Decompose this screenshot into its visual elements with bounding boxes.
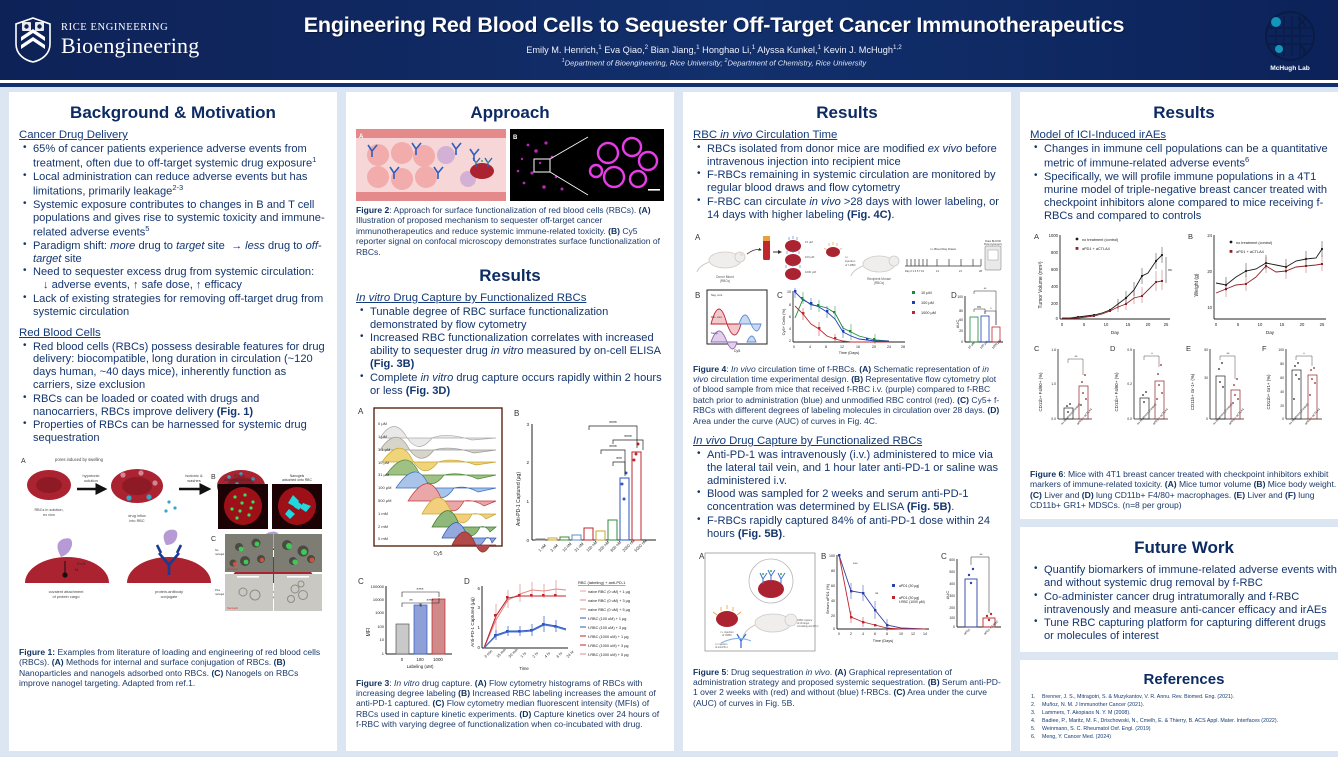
svg-text:***: ***: [853, 561, 858, 566]
svg-text:naive RBC (0 uM) + 3 µg: naive RBC (0 uM) + 3 µg: [588, 599, 630, 603]
svg-text:aPD1 + aCTLA4: aPD1 + aCTLA4: [1228, 407, 1245, 426]
svg-text:aPD1 (30 µg): aPD1 (30 µg): [899, 584, 919, 588]
section-title-results-2: Results: [356, 266, 664, 286]
mchugh-lab-logo: McHugh Lab: [1248, 1, 1332, 79]
svg-text:10 µM: 10 µM: [921, 291, 932, 295]
list-item: Brenner, J. S., Mitragotri, S. & Muzykan…: [1030, 694, 1338, 702]
svg-text:31 µM: 31 µM: [378, 472, 389, 477]
svg-text:CD11b+ Gr-1+ (%): CD11b+ Gr-1+ (%): [1190, 373, 1195, 410]
section-title-results-3: Results: [693, 103, 1001, 123]
svg-text:**: **: [979, 552, 983, 557]
svg-text:aPD1 + aCTLA4: aPD1 + aCTLA4: [1082, 247, 1110, 251]
column-results-irae: Results Model of ICI-Induced irAEs Chang…: [1020, 92, 1338, 751]
svg-text:Cy5: Cy5: [734, 349, 740, 353]
card-approach-results: Approach: [346, 92, 674, 751]
svg-text:aPD1 + aCTLA4: aPD1 + aCTLA4: [1304, 407, 1321, 426]
svg-text:of anti-PD-1: of anti-PD-1: [715, 646, 728, 649]
svg-text:1 µM: 1 µM: [378, 434, 387, 439]
svg-text:28: 28: [979, 269, 982, 273]
svg-text:1 hr: 1 hr: [520, 650, 528, 658]
svg-text:0: 0: [401, 657, 404, 662]
svg-text:of protein cargo: of protein cargo: [52, 594, 79, 599]
svg-text:f-RBC (1000 µM): f-RBC (1000 µM): [899, 600, 925, 604]
svg-text:nanogel: nanogel: [215, 592, 225, 596]
list-item: Badiee, P., Maritz, M. F., Drischowski, …: [1030, 718, 1338, 726]
svg-text:0: 0: [953, 625, 955, 629]
svg-text:1: 1: [382, 651, 385, 656]
svg-text:C=O: C=O: [77, 561, 85, 566]
svg-text:A: A: [695, 233, 701, 242]
svg-text:naive RBC (0 uM) + 1 µg: naive RBC (0 uM) + 1 µg: [588, 590, 630, 594]
svg-text:0: 0: [833, 627, 835, 631]
svg-text:0: 0: [1282, 417, 1284, 421]
svg-text:Day: Day: [1111, 330, 1120, 335]
svg-text:10: 10: [1207, 305, 1212, 310]
svg-text:*: *: [1303, 352, 1305, 356]
svg-text:8: 8: [825, 345, 827, 349]
reference-list: Brenner, J. S., Mitragotri, S. & Muzykan…: [1030, 694, 1338, 742]
svg-text:400: 400: [949, 582, 955, 586]
list-item: Need to sequester excess drug from syste…: [21, 266, 327, 292]
svg-text:28: 28: [901, 345, 905, 349]
list-item: Lack of existing strategies for removing…: [21, 293, 327, 319]
svg-text:80: 80: [831, 569, 835, 573]
svg-text:*: *: [1151, 352, 1153, 356]
svg-text:60: 60: [959, 318, 963, 322]
svg-text:B: B: [513, 135, 518, 141]
svg-text:14: 14: [923, 632, 927, 636]
svg-text:4: 4: [809, 345, 811, 349]
svg-text:E: E: [1186, 344, 1191, 353]
svg-text:C: C: [777, 291, 783, 300]
svg-text:****: ****: [426, 598, 433, 603]
svg-text:0: 0: [526, 538, 529, 543]
subheading-ici-irae: Model of ICI-Induced irAEs: [1030, 129, 1338, 141]
svg-text:4: 4: [789, 327, 791, 331]
svg-text:RBCs in solution,: RBCs in solution,: [34, 508, 63, 512]
subheading-in-vitro-capture: In vitro Drug Capture by Functionalized …: [356, 292, 664, 304]
svg-text:(RBCs): (RBCs): [720, 279, 730, 283]
card-future-work: Future Work Quantify biomarkers of immun…: [1020, 527, 1338, 652]
svg-text:10000: 10000: [373, 597, 385, 602]
list-item: Systemic exposure contributes to changes…: [21, 199, 327, 239]
list-item: Blood was sampled for 2 weeks and serum …: [695, 488, 1001, 514]
svg-text:**: **: [1075, 355, 1078, 359]
svg-text:20: 20: [1300, 322, 1305, 327]
svg-text:10: 10: [899, 632, 903, 636]
svg-text:100: 100: [416, 657, 424, 662]
svg-text:RBC (labeling) + anti-PD-1: RBC (labeling) + anti-PD-1: [578, 580, 626, 585]
svg-text:4: 4: [862, 632, 864, 636]
subheading-cancer-drug-delivery: Cancer Drug Delivery: [19, 129, 327, 141]
bullet-list-in-vivo-capture: Anti-PD-1 was intravenously (i.v.) admin…: [695, 449, 1001, 540]
svg-text:0 min: 0 min: [484, 649, 493, 658]
svg-text:1000: 1000: [433, 657, 443, 662]
bullet-list-irae: Changes in immune cell populations can b…: [1032, 143, 1338, 223]
svg-text:6: 6: [874, 632, 876, 636]
svg-text:12: 12: [840, 345, 844, 349]
svg-text:C: C: [211, 536, 216, 543]
author-list: Emily M. Henrich,1 Eva Qiao,2 Bian Jiang…: [210, 44, 1218, 55]
card-results-invivo: Results RBC in vivo Circulation Time RBC…: [683, 92, 1011, 751]
list-item: Tunable degree of RBC surface functional…: [358, 306, 664, 332]
card-references: References Brenner, J. S., Mitragotri, S…: [1020, 660, 1338, 751]
svg-text:of f-RBC: of f-RBC: [845, 263, 856, 267]
svg-text:0: 0: [1215, 322, 1218, 327]
svg-text:25: 25: [1164, 322, 1169, 327]
svg-text:CD11b+ F4/80+ (%): CD11b+ F4/80+ (%): [1114, 372, 1119, 412]
svg-text:**: **: [409, 598, 413, 603]
list-item: Complete in vitro drug capture occurs ra…: [358, 372, 664, 398]
bullet-list-future-work: Quantify biomarkers of immune-related ad…: [1032, 564, 1338, 643]
svg-text:1000 µM: 1000 µM: [921, 311, 936, 315]
svg-text:100: 100: [949, 616, 955, 620]
list-item: RBCs isolated from donor mice are modifi…: [695, 143, 1001, 169]
svg-text:80: 80: [1280, 362, 1284, 366]
svg-text:adsorbed onto RBC: adsorbed onto RBC: [224, 478, 254, 482]
list-item: Red blood cells (RBCs) possess desirable…: [21, 341, 327, 393]
svg-text:21: 21: [959, 269, 962, 273]
svg-text:Cy5+ Cells (%): Cy5+ Cells (%): [781, 307, 786, 334]
card-results-irae: Results Model of ICI-Induced irAEs Chang…: [1020, 92, 1338, 519]
svg-text:100000: 100000: [371, 584, 385, 589]
list-item: F-RBC can circulate in vivo >28 days wit…: [695, 196, 1001, 222]
svg-text:f-RBC (100 uM) + 3 µg: f-RBC (100 uM) + 3 µg: [588, 626, 626, 630]
svg-text:Nanogels: Nanogels: [227, 567, 239, 571]
column-results-invivo: Results RBC in vivo Circulation Time RBC…: [683, 92, 1011, 751]
svg-text:100: 100: [377, 624, 384, 629]
svg-text:200: 200: [1051, 301, 1059, 306]
svg-text:CD11b+ Gr1+ (%): CD11b+ Gr1+ (%): [1266, 374, 1271, 410]
svg-text:600: 600: [949, 558, 955, 562]
figure-3-caption: Figure 3: In vitro drug capture. (A) Flo…: [356, 678, 664, 730]
svg-text:600: 600: [1051, 267, 1059, 272]
list-item: Lammers, T. Akopiaos N. Y. M (2008).: [1030, 710, 1338, 718]
list-item: Changes in immune cell populations can b…: [1032, 143, 1338, 171]
svg-text:10 µM: 10 µM: [378, 460, 389, 465]
svg-text:40: 40: [1280, 390, 1284, 394]
svg-text:drug influx: drug influx: [128, 514, 146, 518]
svg-text:A: A: [359, 134, 364, 140]
svg-text:400: 400: [1051, 284, 1059, 289]
svg-text:2: 2: [526, 460, 529, 465]
svg-text:Plus: Plus: [215, 588, 221, 592]
svg-text:ns: ns: [875, 591, 879, 595]
svg-text:8: 8: [789, 303, 791, 307]
svg-text:0: 0: [1056, 316, 1059, 321]
bioengineering-text: Bioengineering: [61, 35, 199, 57]
figure-2: A: [356, 129, 664, 201]
svg-text:Anti-PD-1 Captured (µg): Anti-PD-1 Captured (µg): [470, 596, 475, 646]
svg-text:50: 50: [1204, 348, 1208, 352]
svg-text:0 µM: 0 µM: [378, 421, 387, 426]
list-item: F-RBCs remaining in systemic circulation…: [695, 169, 1001, 195]
svg-text:100 µM: 100 µM: [921, 301, 934, 305]
svg-text:Day: Day: [1266, 330, 1275, 335]
svg-text:60: 60: [831, 584, 835, 588]
figure-5-caption: Figure 5: Drug sequestration in vivo. (A…: [693, 667, 1001, 709]
svg-text:A: A: [21, 458, 26, 465]
rice-shield-icon: [14, 17, 52, 63]
svg-text:4 hr: 4 hr: [544, 650, 552, 658]
svg-text:C: C: [358, 577, 364, 586]
svg-text:Day 0 1 3 5 7 10: Day 0 1 3 5 7 10: [905, 269, 925, 273]
svg-text:Tumor Volume (mm³): Tumor Volume (mm³): [1038, 261, 1044, 308]
svg-text:10 µM: 10 µM: [805, 240, 813, 244]
svg-text:3.1 µM: 3.1 µM: [378, 447, 390, 452]
svg-text:Nanogels: Nanogels: [227, 606, 239, 610]
svg-text:0.5: 0.5: [1127, 348, 1132, 352]
list-item: Co-administer cancer drug intratumorally…: [1032, 591, 1338, 617]
subheading-circulation-time: RBC in vivo Circulation Time: [693, 129, 1001, 141]
svg-text:Serum aPD1 (%): Serum aPD1 (%): [825, 583, 830, 614]
figure-1-panels-bc: B PLNPs adsorbed onto RBC Nanogels adsor…: [211, 471, 327, 641]
list-item: Anti-PD-1 was intravenously (i.v.) admin…: [695, 449, 1001, 488]
svg-text:ex vivo: ex vivo: [43, 513, 55, 517]
svg-text:500 µM: 500 µM: [378, 498, 391, 503]
svg-text:2 mM: 2 mM: [378, 524, 388, 529]
bullet-list-in-vitro: Tunable degree of RBC surface functional…: [358, 306, 664, 397]
svg-text:Samp.: Samp.: [711, 331, 719, 335]
svg-text:15: 15: [1280, 322, 1285, 327]
svg-text:100 µM: 100 µM: [979, 339, 989, 349]
svg-text:No: No: [215, 548, 219, 552]
svg-text:500: 500: [949, 570, 955, 574]
svg-text:N: N: [75, 567, 78, 572]
svg-text:adsorbed onto RBC: adsorbed onto RBC: [282, 478, 312, 482]
bullet-list-drug-delivery: 65% of cancer patients experience advers…: [21, 143, 327, 319]
svg-text:****: ****: [609, 445, 617, 451]
svg-text:D: D: [464, 577, 470, 586]
svg-text:24 hr: 24 hr: [566, 649, 575, 658]
svg-text:D: D: [951, 291, 957, 300]
svg-text:****: ****: [624, 435, 632, 441]
svg-text:f-RBC (1000 uM) + 1 µg: f-RBC (1000 uM) + 1 µg: [588, 635, 629, 639]
page-title: Engineering Red Blood Cells to Sequester…: [210, 13, 1218, 38]
svg-text:into RBC: into RBC: [129, 519, 144, 523]
svg-text:aPD1: aPD1: [963, 627, 971, 635]
svg-text:****: ****: [416, 587, 423, 592]
svg-text:20: 20: [1146, 322, 1151, 327]
bullet-list-circulation: RBCs isolated from donor mice are modifi…: [695, 143, 1001, 222]
svg-text:circulating anti-PD-1: circulating anti-PD-1: [797, 625, 819, 628]
svg-text:14: 14: [936, 269, 939, 273]
svg-text:6: 6: [478, 586, 481, 591]
svg-text:CD11b+ F4/80+ (%): CD11b+ F4/80+ (%): [1038, 372, 1043, 412]
svg-text:5 mM: 5 mM: [378, 536, 388, 541]
svg-text:Neg. cont.: Neg. cont.: [711, 293, 723, 297]
svg-text:1000: 1000: [375, 610, 385, 615]
svg-text:100 µM: 100 µM: [805, 255, 815, 259]
svg-text:3: 3: [478, 605, 481, 610]
affiliation-line: 1Department of Bioengineering, Rice Univ…: [210, 58, 1218, 68]
svg-text:conjugate: conjugate: [161, 594, 178, 599]
svg-text:2: 2: [789, 339, 791, 343]
list-item: Specifically, we will profile immune pop…: [1032, 171, 1338, 223]
svg-text:1: 1: [526, 499, 529, 504]
svg-text:B: B: [1188, 232, 1193, 241]
svg-text:20: 20: [1207, 269, 1212, 274]
svg-text:15: 15: [1126, 322, 1131, 327]
svg-text:15 min: 15 min: [496, 647, 507, 658]
column-background: Background & Motivation Cancer Drug Deli…: [9, 92, 337, 751]
svg-text:0.0: 0.0: [1127, 417, 1132, 421]
svg-text:****: ****: [609, 421, 617, 427]
svg-text:ns: ns: [1168, 268, 1172, 272]
svg-text:Pos. cont.: Pos. cont.: [711, 315, 723, 319]
rice-engineering-logo: RICE ENGINEERING Bioengineering: [0, 17, 200, 63]
subheading-in-vivo-capture: In vivo Drug Capture by Functionalized R…: [693, 435, 1001, 447]
figure-1-caption: Figure 1: Examples from literature of lo…: [19, 647, 327, 689]
svg-text:**: **: [984, 287, 987, 291]
svg-text:Time (Days): Time (Days): [873, 639, 894, 643]
svg-text:aPD1 + aCTLA4: aPD1 + aCTLA4: [1236, 250, 1264, 254]
svg-text:60: 60: [1280, 376, 1284, 380]
svg-text:300: 300: [949, 594, 955, 598]
svg-text:Flow Cytometry: Flow Cytometry: [984, 242, 1003, 246]
svg-text:B: B: [211, 474, 216, 481]
svg-text:1000 µM: 1000 µM: [991, 338, 1002, 349]
svg-text:200: 200: [949, 606, 955, 610]
svg-text:20: 20: [872, 345, 876, 349]
svg-text:Anti-PD-1 Captured (µg): Anti-PD-1 Captured (µg): [516, 471, 522, 525]
svg-text:100: 100: [829, 554, 835, 558]
svg-text:no treatment (control): no treatment (control): [1082, 238, 1119, 242]
list-item: F-RBCs rapidly captured 84% of anti-PD-1…: [695, 515, 1001, 541]
svg-text:1: 1: [478, 625, 481, 630]
figure-3: A: [356, 404, 664, 674]
svg-text:nanogel: nanogel: [215, 552, 225, 556]
poster-header: RICE ENGINEERING Bioengineering Engineer…: [0, 0, 1338, 83]
svg-text:washes: washes: [187, 478, 201, 483]
svg-text:(RBCs): (RBCs): [874, 281, 884, 285]
svg-text:20: 20: [831, 614, 835, 618]
svg-text:100 nM: 100 nM: [585, 539, 598, 552]
svg-text:f-RBC (100 uM) + 1 µg: f-RBC (100 uM) + 1 µg: [588, 617, 626, 621]
svg-text:300 nM: 300 nM: [597, 539, 610, 552]
svg-text:C: C: [941, 552, 947, 561]
svg-text:0: 0: [478, 645, 481, 650]
svg-text:24: 24: [1207, 233, 1212, 238]
figure-5: A i.v. injection of f-RBC: [693, 547, 1001, 659]
svg-text:D: D: [1110, 344, 1116, 353]
figure-4: A Donor Blood (RBCs): [693, 228, 1001, 356]
svg-text:3 nM: 3 nM: [549, 542, 559, 552]
svg-text:30: 30: [1204, 376, 1208, 380]
svg-text:Time (Days): Time (Days): [839, 351, 860, 355]
svg-text:MFI: MFI: [366, 627, 372, 636]
indent-note: ↓ adverse events, ↑ safe dose, ↑ efficac…: [33, 279, 327, 292]
svg-text:1 mM: 1 mM: [378, 511, 388, 516]
svg-text:1.6: 1.6: [1051, 348, 1056, 352]
list-item: Local administration can reduce adverse …: [21, 171, 327, 199]
list-item: Muñoz, N. M. J Immunother Cancer (2021).: [1030, 702, 1338, 710]
poster-root: RICE ENGINEERING Bioengineering Engineer…: [0, 0, 1338, 757]
svg-text:ns: ns: [977, 305, 981, 309]
svg-text:6: 6: [789, 315, 791, 319]
svg-text:naive RBC (0 uM) + 5 µg: naive RBC (0 uM) + 5 µg: [588, 608, 630, 612]
poster-columns: Background & Motivation Cancer Drug Deli…: [0, 83, 1338, 757]
svg-text:0: 0: [838, 632, 840, 636]
svg-text:8: 8: [886, 632, 888, 636]
svg-text:20: 20: [959, 329, 963, 333]
svg-text:f-RBC (1000 uM) + 3 µg: f-RBC (1000 uM) + 3 µg: [588, 644, 629, 648]
svg-text:**: **: [1227, 352, 1230, 356]
figure-2-caption: Figure 2: Approach for surface functiona…: [356, 205, 664, 257]
svg-text:i.v. Blood Day Draws: i.v. Blood Day Draws: [930, 247, 956, 251]
svg-text:C: C: [1034, 344, 1040, 353]
list-item: Tune RBC capturing platform for capturin…: [1032, 617, 1338, 643]
svg-text:Labeling (uM): Labeling (uM): [407, 664, 434, 669]
svg-text:B: B: [821, 552, 826, 561]
list-item: Quantify biomarkers of immune-related ad…: [1032, 564, 1338, 590]
figure-6: A Tumor Volume (mm³) 1000800600 4002000: [1030, 227, 1338, 467]
svg-text:800: 800: [1051, 250, 1059, 255]
bullet-list-rbc: Red blood cells (RBCs) possess desirable…: [21, 341, 327, 445]
svg-text:10: 10: [380, 637, 385, 642]
svg-text:16: 16: [856, 345, 860, 349]
title-block: Engineering Red Blood Cells to Sequester…: [200, 13, 1248, 68]
section-title-future-work: Future Work: [1030, 538, 1338, 558]
list-item: Increased RBC functionalization correlat…: [358, 332, 664, 371]
svg-text:solution: solution: [84, 478, 98, 483]
svg-text:Cy5: Cy5: [434, 551, 443, 557]
list-item: Paradigm shift: more drug to target site…: [21, 240, 327, 266]
svg-text:3: 3: [526, 422, 529, 427]
svg-text:2 hr: 2 hr: [532, 650, 540, 658]
svg-text:A: A: [699, 552, 705, 561]
svg-text:0: 0: [961, 340, 963, 344]
list-item: RBCs can be loaded or coated with drugs …: [21, 393, 327, 419]
svg-text:0: 0: [1061, 322, 1064, 327]
svg-text:*: *: [990, 307, 992, 311]
svg-text:A: A: [358, 407, 364, 416]
subheading-red-blood-cells: Red Blood Cells: [19, 327, 327, 339]
svg-text:Time: Time: [519, 666, 529, 671]
svg-text:600 nM: 600 nM: [609, 539, 622, 552]
svg-text:0.2: 0.2: [1127, 382, 1132, 386]
svg-text:5: 5: [1083, 322, 1086, 327]
svg-text:80: 80: [959, 309, 963, 313]
svg-text:1.0: 1.0: [1051, 382, 1056, 386]
list-item: Meng, Y. Cancer Med. (2024): [1030, 734, 1338, 742]
svg-text:Weight (g): Weight (g): [1194, 273, 1200, 296]
section-title-background: Background & Motivation: [19, 103, 327, 123]
svg-text:pores induced by swelling: pores induced by swelling: [55, 457, 104, 462]
svg-text:2: 2: [850, 632, 852, 636]
svg-text:25: 25: [1320, 322, 1325, 327]
svg-text:A: A: [1034, 232, 1039, 241]
card-background-motivation: Background & Motivation Cancer Drug Deli…: [9, 92, 337, 751]
figure-6-caption: Figure 6: Mice with 4T1 breast cancer tr…: [1030, 469, 1338, 511]
svg-text:B: B: [514, 409, 519, 418]
svg-text:no treatment (control): no treatment (control): [1236, 241, 1273, 245]
svg-text:40: 40: [831, 599, 835, 603]
svg-text:100: 100: [1278, 348, 1284, 352]
svg-text:0.0: 0.0: [1051, 417, 1056, 421]
svg-text:1 nM: 1 nM: [537, 542, 547, 552]
svg-text:aPD1 + aCTLA4: aPD1 + aCTLA4: [1152, 407, 1169, 426]
list-item: Weinmann, S. C. Rheumatol Oxf. Engl. (20…: [1030, 726, 1338, 734]
svg-text:F: F: [1262, 344, 1267, 353]
svg-text:5: 5: [1237, 322, 1240, 327]
column-approach: Approach: [346, 92, 674, 751]
svg-text:10 nM: 10 nM: [561, 541, 572, 552]
svg-text:***: ***: [616, 457, 622, 463]
svg-text:100: 100: [957, 295, 963, 299]
svg-text:f-RBC (1000 uM) + 5 µg: f-RBC (1000 uM) + 5 µg: [588, 653, 629, 657]
svg-text:8 hr: 8 hr: [556, 650, 564, 658]
